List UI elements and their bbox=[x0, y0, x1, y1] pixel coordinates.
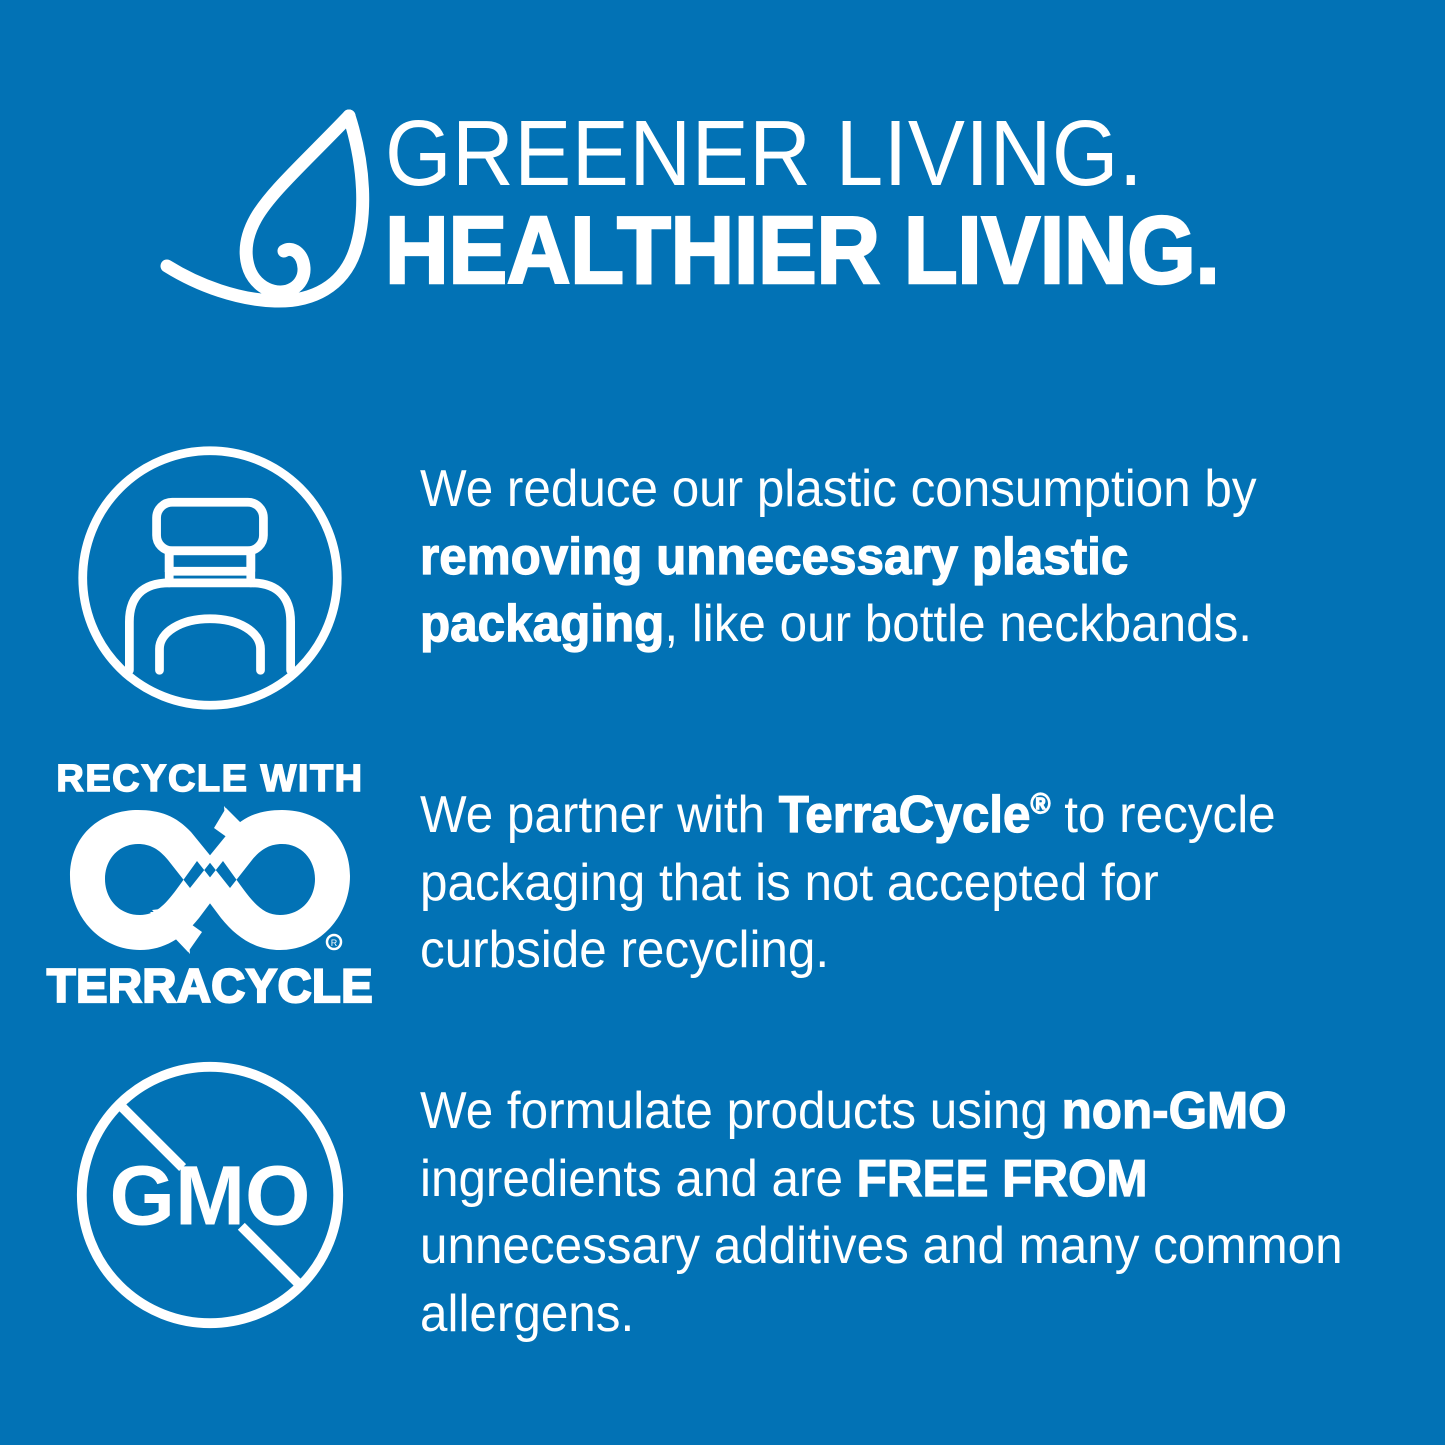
feature-text-gmo: We formulate products using non-GMO ingr… bbox=[420, 1058, 1394, 1348]
feature-text-1-part2: , like our bottle neckbands. bbox=[664, 595, 1252, 653]
no-gmo-icon: GMO bbox=[0, 1058, 420, 1332]
promo-panel: GREENER LIVING. HEALTHIER LIVING. bbox=[0, 0, 1445, 1445]
feature-text-3-bold2: FREE FROM bbox=[857, 1150, 1148, 1208]
leaf-icon bbox=[153, 106, 393, 321]
headline-line-1: GREENER LIVING. bbox=[385, 108, 1219, 199]
terracycle-logo-top-text: RECYCLE WITH bbox=[56, 760, 363, 798]
feature-row-gmo: GMO We formulate products using non-GMO … bbox=[0, 1058, 1445, 1348]
feature-text-terracycle: We partner with TerraCycle® to recycle p… bbox=[420, 760, 1394, 985]
terracycle-logo: RECYCLE WITH R bbox=[0, 760, 420, 1009]
feature-text-3-part3: unnecessary additives and many common al… bbox=[420, 1217, 1343, 1343]
feature-text-3-bold1: non-GMO bbox=[1062, 1082, 1287, 1140]
terracycle-logo-stack: RECYCLE WITH R bbox=[65, 760, 355, 1009]
headline-block: GREENER LIVING. HEALTHIER LIVING. bbox=[385, 96, 1292, 299]
feature-text-3-part1: We formulate products using bbox=[420, 1082, 1062, 1140]
feature-row-terracycle: RECYCLE WITH R bbox=[0, 760, 1445, 1009]
headline-line-2: HEALTHIER LIVING. bbox=[385, 203, 1219, 299]
feature-row-plastic: We reduce our plastic consumption by rem… bbox=[0, 442, 1445, 714]
registered-trademark-symbol: ® bbox=[1030, 789, 1050, 821]
feature-text-2-bold1: TerraCycle bbox=[779, 786, 1031, 844]
terracycle-logo-bottom-text: TERRACYCLE bbox=[47, 962, 373, 1009]
plastic-bottle-circle-icon bbox=[0, 442, 420, 714]
feature-text-2-part1: We partner with bbox=[420, 786, 779, 844]
feature-text-plastic: We reduce our plastic consumption by rem… bbox=[420, 442, 1394, 659]
infinity-recycle-icon: R bbox=[66, 804, 354, 956]
feature-text-1-part1: We reduce our plastic consumption by bbox=[420, 460, 1257, 518]
svg-text:R: R bbox=[331, 938, 338, 948]
header: GREENER LIVING. HEALTHIER LIVING. bbox=[0, 96, 1445, 326]
no-gmo-label: GMO bbox=[110, 1148, 311, 1242]
feature-text-3-part2: ingredients and are bbox=[420, 1150, 857, 1208]
